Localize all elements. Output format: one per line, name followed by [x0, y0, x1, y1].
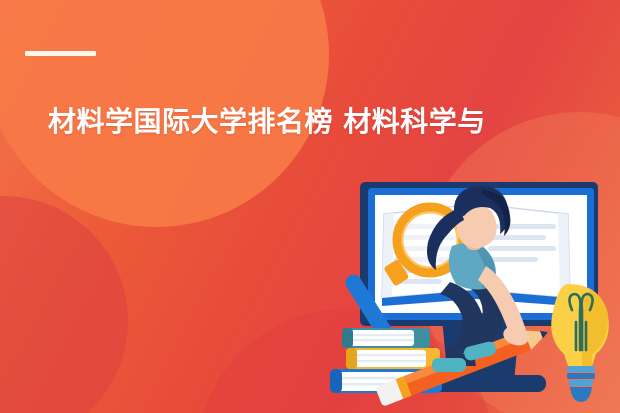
study-research-illustration	[324, 170, 620, 413]
lightbulb-icon	[551, 284, 609, 402]
page-title: 材料学国际大学排名榜 材料科学与	[48, 103, 608, 141]
accent-dash	[25, 51, 96, 56]
promo-banner: 材料学国际大学排名榜 材料科学与	[0, 0, 620, 413]
